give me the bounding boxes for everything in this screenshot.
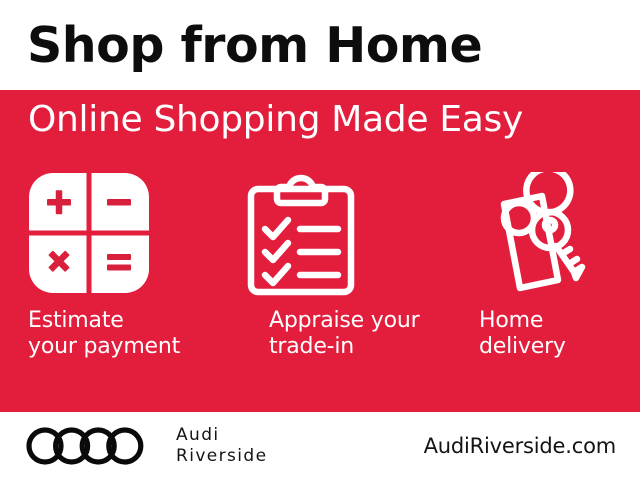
footer-bar: Audi Riverside AudiRiverside.com (0, 412, 640, 480)
feature-appraise-trade-in: Appraise your trade-in (213, 172, 426, 402)
audi-four-rings-logo (26, 425, 144, 467)
header-bar: Shop from Home (0, 0, 640, 90)
feature-estimate-payment: Estimate your payment (0, 172, 213, 402)
shop-from-home-ad: Shop from Home Online Shopping Made Easy (0, 0, 640, 480)
dealer-name: Audi Riverside (176, 425, 267, 467)
page-title: Shop from Home (27, 21, 482, 70)
car-keys-tag-icon (470, 172, 600, 298)
feature-home-delivery: Home delivery (426, 172, 639, 402)
clipboard-checklist-icon (239, 172, 369, 298)
website-url[interactable]: AudiRiverside.com (424, 434, 616, 458)
feature-caption: Appraise your trade-in (269, 308, 419, 360)
promo-banner: Online Shopping Made Easy (0, 90, 640, 412)
calculator-icon (28, 172, 158, 298)
feature-list: Estimate your payment (0, 172, 640, 402)
feature-caption: Home delivery (479, 308, 566, 360)
feature-caption: Estimate your payment (28, 308, 180, 360)
banner-subtitle: Online Shopping Made Easy (28, 102, 523, 138)
